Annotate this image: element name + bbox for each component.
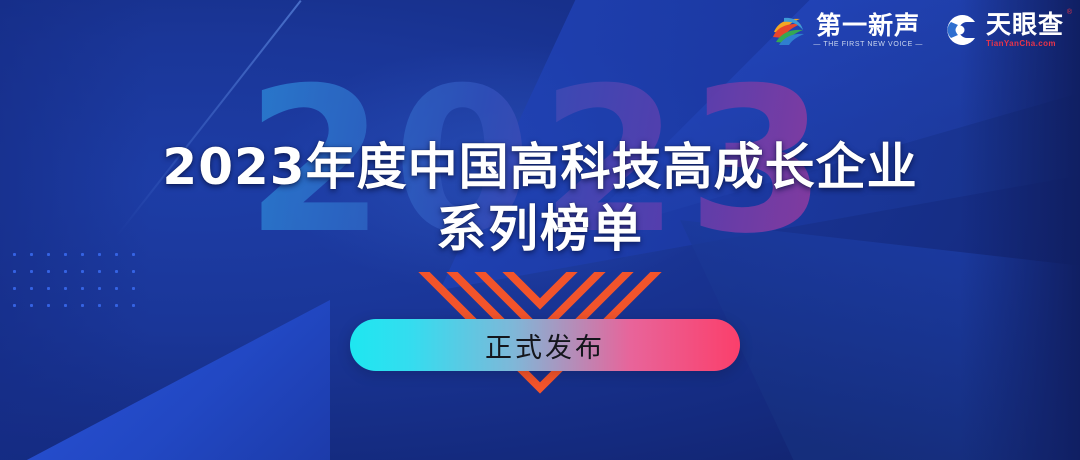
title-line-1: 2023年度中国高科技高成长企业 xyxy=(0,138,1080,196)
logo-diyixinsheng[interactable]: 第一新声 — THE FIRST NEW VOICE — xyxy=(770,12,923,48)
logo-diyixinsheng-tagline: — THE FIRST NEW VOICE — xyxy=(813,41,923,48)
logo-diyixinsheng-name: 第一新声 xyxy=(816,13,920,38)
camera-aperture-icon xyxy=(945,13,979,47)
logo-diyixinsheng-text: 第一新声 — THE FIRST NEW VOICE — xyxy=(813,13,923,48)
promo-banner: 2023 2023年度中国高科技高成长企业 系列榜单 正式发布 xyxy=(0,0,1080,460)
logo-bar: 第一新声 — THE FIRST NEW VOICE — 天眼查 TianYan… xyxy=(770,12,1064,48)
logo-tianyancha-text: 天眼查 TianYanCha.com ® xyxy=(986,12,1064,48)
title-line-2: 系列榜单 xyxy=(0,200,1080,258)
logo-tianyancha[interactable]: 天眼查 TianYanCha.com ® xyxy=(945,12,1064,48)
background-facet-bottom-left xyxy=(0,300,330,460)
swirl-ribbon-icon xyxy=(770,12,806,48)
release-status-pill[interactable]: 正式发布 xyxy=(350,319,740,371)
trademark-icon: ® xyxy=(1067,9,1072,16)
logo-tianyancha-domain: TianYanCha.com xyxy=(986,40,1056,48)
release-status-label: 正式发布 xyxy=(485,326,605,365)
banner-title: 2023年度中国高科技高成长企业 系列榜单 xyxy=(0,138,1080,258)
logo-tianyancha-name: 天眼查 xyxy=(986,12,1064,37)
